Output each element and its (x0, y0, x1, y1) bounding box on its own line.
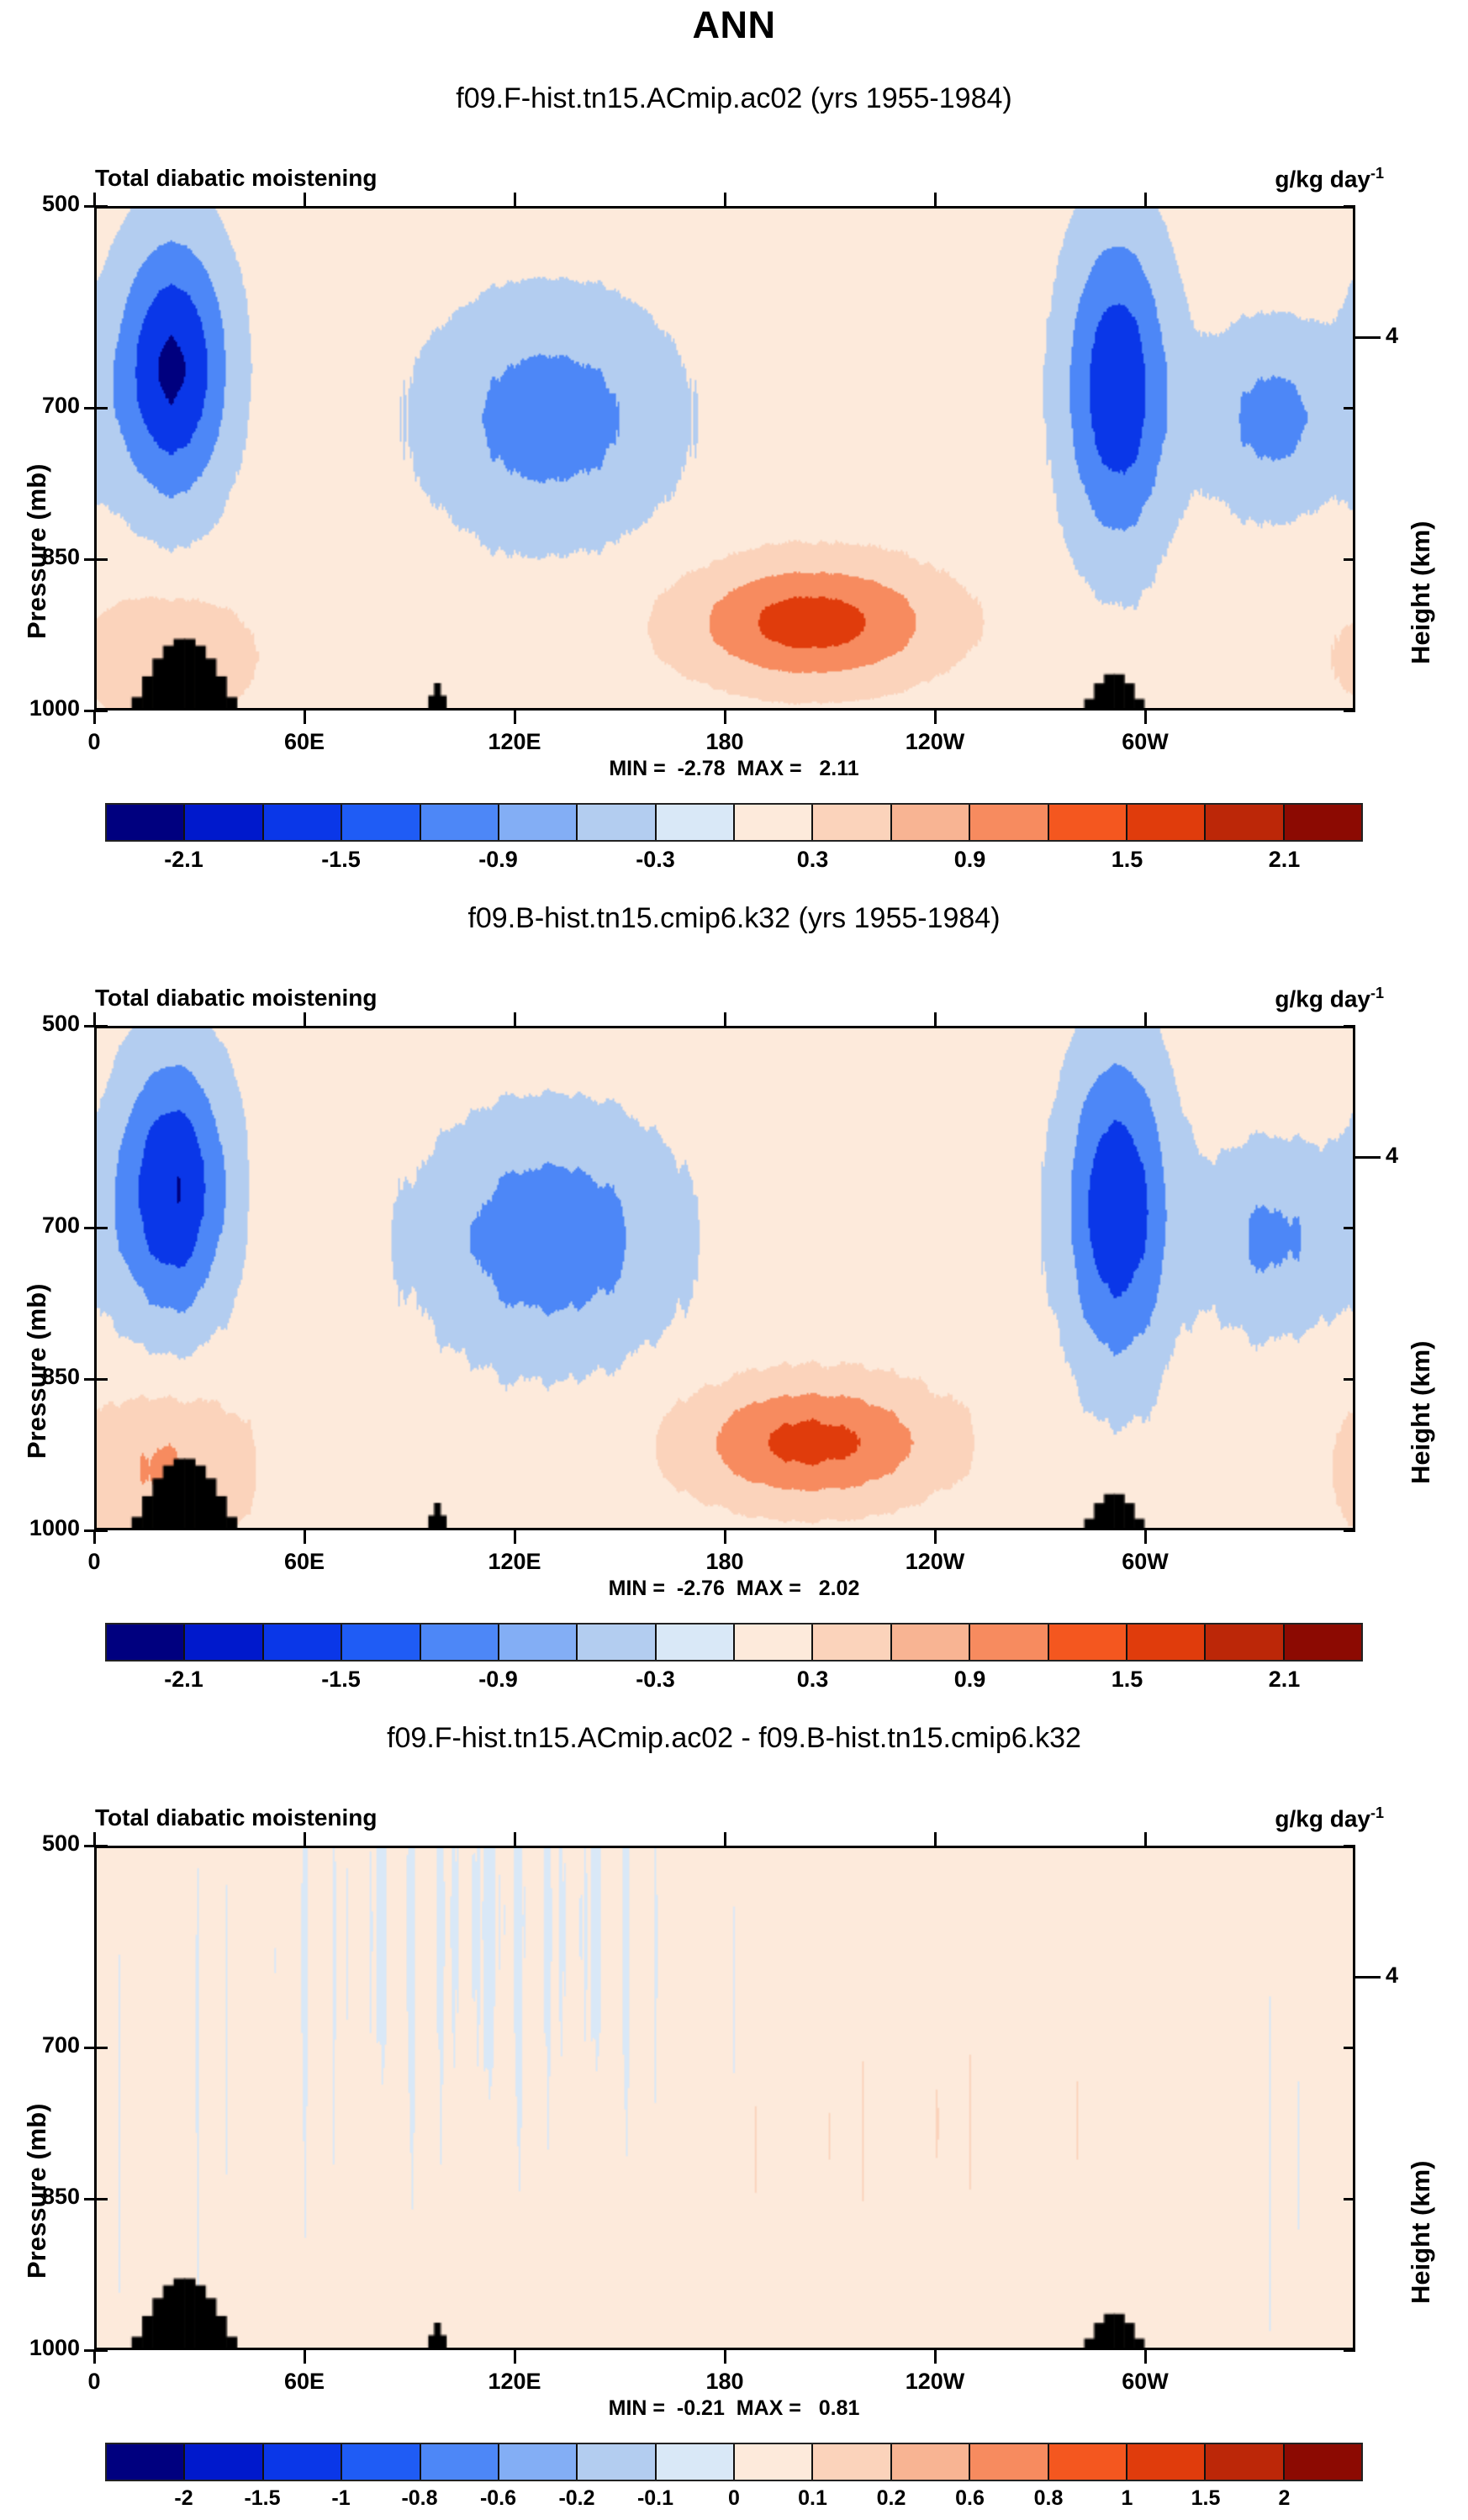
colorbar-cell (657, 2444, 735, 2480)
panel-2-xtick-mark (93, 1530, 96, 1544)
colorbar-cell (892, 2444, 970, 2480)
panel-1-xtick-mark (1144, 711, 1147, 724)
panel-2-ytick-mark-right (1344, 1025, 1355, 1028)
colorbar-cell (970, 1625, 1048, 1660)
colorbar-cell (970, 2444, 1048, 2480)
colorbar-tick-label: -0.9 (478, 847, 518, 873)
panel-1-ytick-mark (84, 205, 108, 208)
colorbar-tick-label: 0.9 (954, 847, 986, 873)
panel-3-variable-label: Total diabatic moistening (95, 1804, 378, 1831)
colorbar-cell (1285, 1625, 1361, 1660)
panel-1-colorbar-labels: -2.1-1.5-0.9-0.30.30.91.52.1 (105, 847, 1363, 880)
panel-2-ytick-500: 500 (0, 1011, 80, 1037)
colorbar-cell (970, 805, 1048, 840)
colorbar-cell (735, 805, 813, 840)
panel-2-ytick-mark (84, 1529, 108, 1532)
colorbar-cell (1127, 1625, 1206, 1660)
panel-3-xtick-60W: 60W (1095, 2369, 1196, 2395)
panel-3-xtick-mark (514, 2350, 516, 2364)
panel-3-ytick-mark-right (1344, 2198, 1355, 2200)
colorbar-tick-label: -1 (331, 2486, 350, 2511)
colorbar-cell (1285, 2444, 1361, 2480)
colorbar-cell (1285, 805, 1361, 840)
colorbar-cell (421, 805, 499, 840)
colorbar-cell (578, 2444, 656, 2480)
colorbar-cell (1049, 2444, 1127, 2480)
panel-1-ytick-mark-right (1344, 407, 1355, 409)
colorbar-tick-label: -0.3 (636, 1667, 675, 1693)
colorbar-tick-label: 2.1 (1269, 1667, 1301, 1693)
panel-2-variable-label: Total diabatic moistening (95, 985, 378, 1012)
colorbar-cell (1127, 805, 1206, 840)
colorbar-tick-label: 0.9 (954, 1667, 986, 1693)
panel-2-xtick-60W: 60W (1095, 1549, 1196, 1575)
panel-1-xtick-120W: 120W (884, 729, 985, 755)
panel-2-units-label: g/kg day-1 (1275, 985, 1384, 1012)
colorbar-tick-label: -2.1 (164, 847, 203, 873)
panel-3-ytick-500: 500 (0, 1831, 80, 1857)
panel-2-ytick-mark (84, 1227, 108, 1229)
panel-3-units-text: g/kg day (1275, 1805, 1370, 1831)
panel-3-xtick-120E: 120E (464, 2369, 565, 2395)
panel-3-yaxis-right-label: Height (km) (1406, 2161, 1436, 2305)
colorbar-tick-label: 1 (1122, 2486, 1133, 2511)
panel-3-xtick-mark (93, 2350, 96, 2364)
colorbar-cell (892, 805, 970, 840)
panel-1-xtick-mark-top (724, 193, 726, 206)
panel-1-ytick-mark (84, 558, 108, 561)
panel-3-ytick-mark (84, 1845, 108, 1847)
panel-3-colorbar[interactable] (105, 2443, 1363, 2481)
panel-3-xtick-120W: 120W (884, 2369, 985, 2395)
colorbar-cell (1127, 2444, 1206, 2480)
colorbar-cell (1206, 2444, 1284, 2480)
panel-1-xtick-mark (514, 711, 516, 724)
panel-2-minmax-label: MIN = -2.76 MAX = 2.02 (0, 1577, 1468, 1601)
panel-2-ytick-1000: 1000 (0, 1515, 80, 1541)
colorbar-cell (813, 2444, 891, 2480)
colorbar-tick-label: 2 (1279, 2486, 1291, 2511)
panel-3-plot (94, 1846, 1355, 2350)
panel-2-colorbar-labels: -2.1-1.5-0.9-0.30.30.91.52.1 (105, 1667, 1363, 1700)
panel-1-contour-canvas (97, 209, 1353, 708)
colorbar-cell (735, 1625, 813, 1660)
panel-1-xtick-60W: 60W (1095, 729, 1196, 755)
panel-2-ytick-850: 850 (0, 1364, 80, 1390)
colorbar-cell (185, 805, 263, 840)
panel-2-xtick-mark (304, 1530, 306, 1544)
panel-1-right-ytick: 4 (1386, 323, 1398, 349)
panel-1-ytick-mark-right (1344, 710, 1355, 712)
panel-3-xtick-mark-top (514, 1832, 516, 1846)
colorbar-cell (185, 2444, 263, 2480)
panel-2-ytick-mark (84, 1025, 108, 1028)
panel-3-units-label: g/kg day-1 (1275, 1804, 1384, 1832)
colorbar-cell (499, 1625, 578, 1660)
panel-3-ytick-mark-right (1344, 2349, 1355, 2352)
colorbar-cell (892, 1625, 970, 1660)
colorbar-cell (107, 2444, 185, 2480)
panel-2-xtick-mark-top (304, 1012, 306, 1026)
panel-1-xtick-mark (934, 711, 937, 724)
colorbar-tick-label: -1.5 (244, 2486, 280, 2511)
panel-2-ytick-mark-right (1344, 1378, 1355, 1381)
colorbar-cell (342, 1625, 420, 1660)
colorbar-cell (107, 1625, 185, 1660)
colorbar-tick-label: -2 (174, 2486, 193, 2511)
panel-2-xtick-0: 0 (44, 1549, 145, 1575)
colorbar-cell (735, 2444, 813, 2480)
colorbar-cell (264, 2444, 342, 2480)
panel-1-xtick-mark (304, 711, 306, 724)
colorbar-cell (342, 2444, 420, 2480)
colorbar-tick-label: 2.1 (1269, 847, 1301, 873)
panel-1-yaxis-right-label: Height (km) (1406, 521, 1436, 665)
panel-2-xtick-mark (934, 1530, 937, 1544)
panel-3-xtick-mark-top (304, 1832, 306, 1846)
colorbar-tick-label: -0.6 (480, 2486, 516, 2511)
panel-1-plot (94, 206, 1355, 711)
panel-2-ytick-mark (84, 1378, 108, 1381)
colorbar-cell (813, 805, 891, 840)
panel-1-units-label: g/kg day-1 (1275, 165, 1384, 193)
colorbar-tick-label: 0 (728, 2486, 740, 2511)
panel-1-xtick-mark-top (93, 193, 96, 206)
panel-3-ytick-mark (84, 2349, 108, 2352)
panel-3-xtick-mark (934, 2350, 937, 2364)
panel-3-xtick-mark (724, 2350, 726, 2364)
panel-3-ytick-mark-right (1344, 2047, 1355, 2049)
colorbar-tick-label: -2.1 (164, 1667, 203, 1693)
figure-title: ANN (0, 3, 1468, 47)
colorbar-tick-label: 0.3 (797, 1667, 829, 1693)
colorbar-cell (264, 805, 342, 840)
panel-3-xtick-mark (1144, 2350, 1147, 2364)
panel-1-right-ytick-mark (1355, 336, 1381, 339)
colorbar-cell (342, 805, 420, 840)
panel-1-xtick-mark-top (304, 193, 306, 206)
panel-2-xtick-120E: 120E (464, 1549, 565, 1575)
panel-1-units-text: g/kg day (1275, 166, 1370, 192)
colorbar-tick-label: 0.6 (955, 2486, 985, 2511)
panel-1-xtick-mark-top (934, 193, 937, 206)
panel-1-xtick-180: 180 (674, 729, 775, 755)
panel-3-ytick-mark (84, 2198, 108, 2200)
panel-3-xtick-60E: 60E (254, 2369, 355, 2395)
panel-2-contour-canvas (97, 1028, 1353, 1528)
panel-1-xtick-mark (93, 711, 96, 724)
panel-3-right-ytick-mark (1355, 1976, 1381, 1978)
panel-1-title: f09.F-hist.tn15.ACmip.ac02 (yrs 1955-198… (0, 82, 1468, 115)
panel-1-colorbar[interactable] (105, 803, 1363, 842)
colorbar-tick-label: -0.8 (401, 2486, 437, 2511)
panel-3-minmax-label: MIN = -0.21 MAX = 0.81 (0, 2396, 1468, 2421)
panel-3-xtick-0: 0 (44, 2369, 145, 2395)
panel-2-xtick-mark-top (724, 1012, 726, 1026)
panel-3-ytick-1000: 1000 (0, 2335, 80, 2361)
panel-2-xtick-120W: 120W (884, 1549, 985, 1575)
panel-1-xtick-mark-top (1144, 193, 1147, 206)
panel-2-xtick-mark (514, 1530, 516, 1544)
panel-3-ytick-850: 850 (0, 2184, 80, 2210)
colorbar-cell (264, 1625, 342, 1660)
panel-2-xtick-mark (1144, 1530, 1147, 1544)
panel-2-xtick-180: 180 (674, 1549, 775, 1575)
colorbar-cell (499, 805, 578, 840)
panel-3-ytick-mark (84, 2047, 108, 2049)
panel-3-contour-canvas (97, 1848, 1353, 2348)
colorbar-tick-label: 1.5 (1191, 2486, 1221, 2511)
panel-1-ytick-mark-right (1344, 205, 1355, 208)
panel-1-xtick-mark (724, 711, 726, 724)
panel-2-xtick-mark (724, 1530, 726, 1544)
panel-3-xtick-mark-top (724, 1832, 726, 1846)
panel-2-colorbar[interactable] (105, 1623, 1363, 1662)
panel-2-ytick-mark-right (1344, 1227, 1355, 1229)
panel-1-ytick-850: 850 (0, 544, 80, 570)
panel-1-xtick-0: 0 (44, 729, 145, 755)
colorbar-tick-label: -0.9 (478, 1667, 518, 1693)
colorbar-tick-label: 0.3 (797, 847, 829, 873)
colorbar-tick-label: 0.1 (798, 2486, 827, 2511)
panel-2-xtick-mark-top (1144, 1012, 1147, 1026)
colorbar-tick-label: 1.5 (1112, 1667, 1143, 1693)
panel-3-title: f09.F-hist.tn15.ACmip.ac02 - f09.B-hist.… (0, 1722, 1468, 1755)
panel-2-ytick-700: 700 (0, 1212, 80, 1239)
panel-1-units-exponent: -1 (1370, 165, 1384, 182)
panel-2-plot (94, 1026, 1355, 1530)
colorbar-cell (421, 1625, 499, 1660)
panel-2-xtick-mark-top (934, 1012, 937, 1026)
panel-1-ytick-mark (84, 407, 108, 409)
colorbar-cell (421, 2444, 499, 2480)
colorbar-cell (657, 805, 735, 840)
colorbar-cell (1049, 1625, 1127, 1660)
colorbar-cell (578, 805, 656, 840)
colorbar-cell (578, 1625, 656, 1660)
panel-3-xtick-mark-top (934, 1832, 937, 1846)
panel-3-xtick-180: 180 (674, 2369, 775, 2395)
panel-3-right-ytick: 4 (1386, 1963, 1398, 1989)
panel-1-variable-label: Total diabatic moistening (95, 165, 378, 192)
panel-2-yaxis-right-label: Height (km) (1406, 1341, 1436, 1485)
panel-2-xtick-60E: 60E (254, 1549, 355, 1575)
panel-3-units-exponent: -1 (1370, 1804, 1384, 1821)
panel-1-xtick-60E: 60E (254, 729, 355, 755)
colorbar-tick-label: -1.5 (321, 847, 361, 873)
colorbar-cell (107, 805, 185, 840)
panel-3-ytick-700: 700 (0, 2032, 80, 2058)
panel-1-ytick-500: 500 (0, 191, 80, 217)
panel-1-ytick-mark-right (1344, 558, 1355, 561)
panel-2-units-exponent: -1 (1370, 985, 1384, 1001)
panel-3-xtick-mark-top (1144, 1832, 1147, 1846)
panel-3-ytick-mark-right (1344, 1845, 1355, 1847)
colorbar-cell (1049, 805, 1127, 840)
panel-2-xtick-mark-top (514, 1012, 516, 1026)
panel-1-ytick-mark (84, 710, 108, 712)
colorbar-cell (185, 1625, 263, 1660)
colorbar-tick-label: 0.2 (877, 2486, 906, 2511)
panel-2-ytick-mark-right (1344, 1529, 1355, 1532)
colorbar-tick-label: 0.8 (1034, 2486, 1064, 2511)
colorbar-tick-label: -0.3 (636, 847, 675, 873)
panel-1-ytick-700: 700 (0, 393, 80, 419)
colorbar-cell (1206, 1625, 1284, 1660)
panel-3-xtick-mark (304, 2350, 306, 2364)
colorbar-cell (657, 1625, 735, 1660)
panel-1-xtick-mark-top (514, 193, 516, 206)
panel-1-minmax-label: MIN = -2.78 MAX = 2.11 (0, 757, 1468, 781)
panel-3-colorbar-labels: -2-1.5-1-0.8-0.6-0.2-0.100.10.20.60.811.… (105, 2486, 1363, 2520)
panel-2-right-ytick: 4 (1386, 1143, 1398, 1169)
colorbar-tick-label: -0.1 (637, 2486, 673, 2511)
panel-1-ytick-1000: 1000 (0, 695, 80, 721)
colorbar-tick-label: -0.2 (558, 2486, 594, 2511)
colorbar-cell (1206, 805, 1284, 840)
panel-3-xtick-mark-top (93, 1832, 96, 1846)
panel-2-right-ytick-mark (1355, 1156, 1381, 1159)
colorbar-cell (813, 1625, 891, 1660)
colorbar-tick-label: 1.5 (1112, 847, 1143, 873)
colorbar-cell (499, 2444, 578, 2480)
panel-2-xtick-mark-top (93, 1012, 96, 1026)
panel-1-xtick-120E: 120E (464, 729, 565, 755)
panel-2-units-text: g/kg day (1275, 985, 1370, 1012)
colorbar-tick-label: -1.5 (321, 1667, 361, 1693)
panel-2-title: f09.B-hist.tn15.cmip6.k32 (yrs 1955-1984… (0, 902, 1468, 935)
